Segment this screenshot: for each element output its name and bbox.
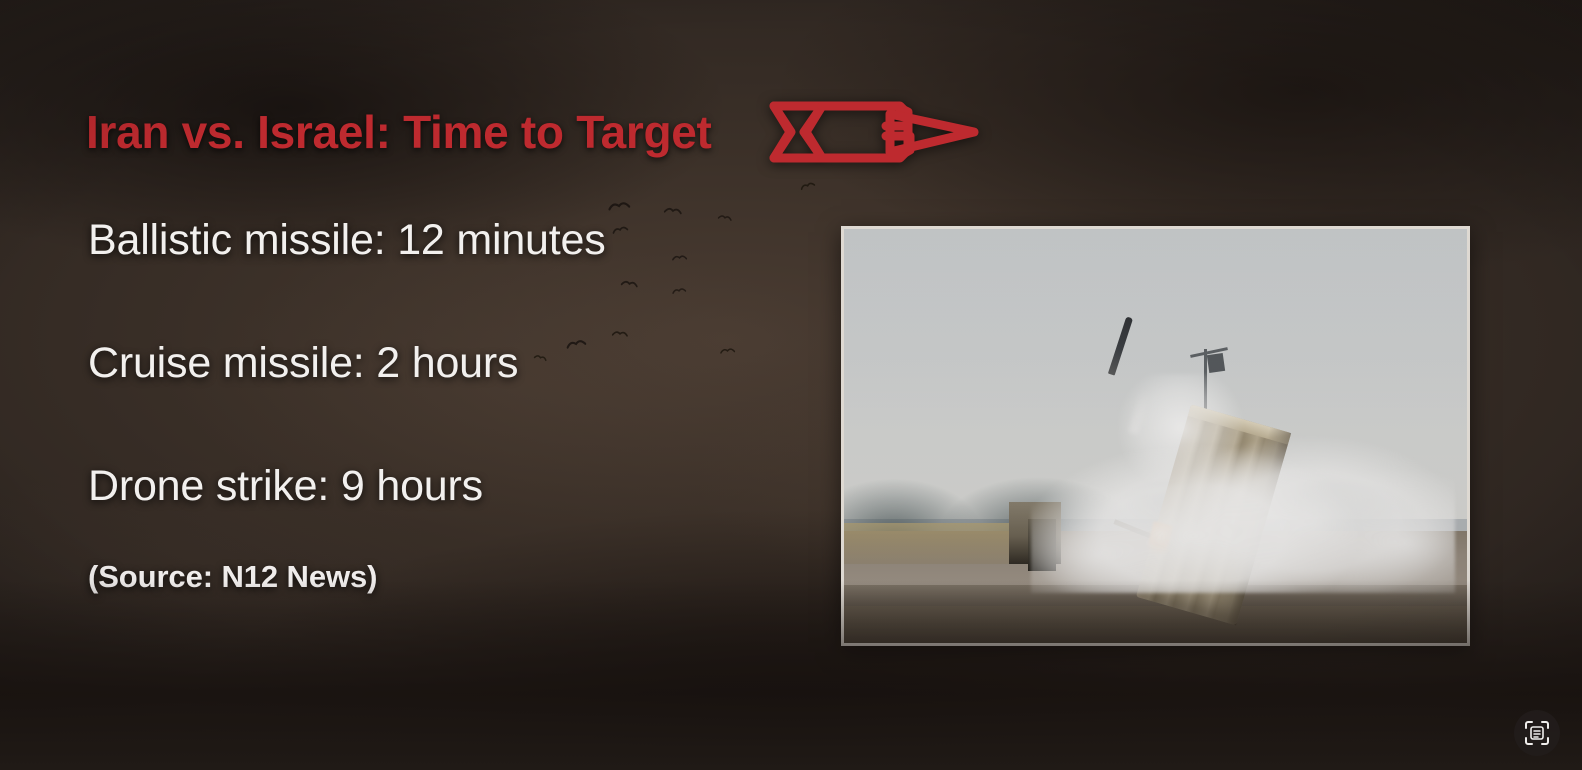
scan-text-button[interactable] (1514, 710, 1560, 756)
slide-canvas: Iran vs. Israel: Time to Target Ballisti… (0, 0, 1582, 770)
background-bottom-fade (0, 580, 1582, 770)
scan-text-icon (1524, 720, 1550, 746)
